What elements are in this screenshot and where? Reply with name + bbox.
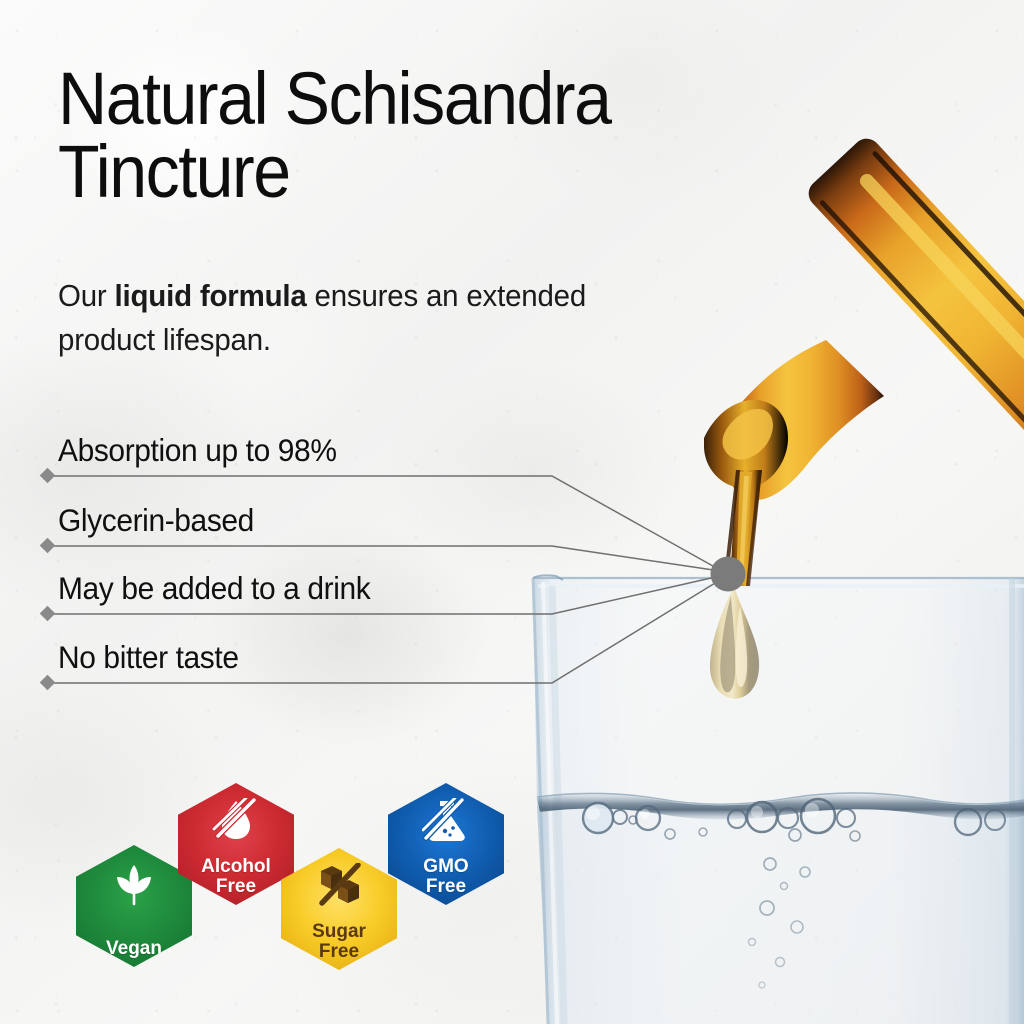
infographic-canvas: Natural Schisandra Tincture Our liquid f… [0, 0, 1024, 1024]
subtitle: Our liquid formula ensures an extended p… [58, 274, 590, 362]
subtitle-bold: liquid formula [115, 278, 307, 313]
no-flask-icon [422, 798, 470, 849]
feature-label-drink: May be added to a drink [58, 570, 370, 607]
leaf-icon [109, 860, 159, 913]
feature-label-glycerin: Glycerin-based [58, 502, 254, 539]
badge-alcohol-free-label: AlcoholFree [201, 857, 271, 896]
badge-gmo-free-label: GMOFree [423, 857, 468, 896]
title-line-1: Natural Schisandra [58, 62, 757, 135]
title-line-2: Tincture [58, 135, 757, 208]
page-title: Natural Schisandra Tincture [58, 62, 757, 209]
badge-sugar-free-label: SugarFree [312, 922, 366, 961]
no-droplet-icon [212, 798, 260, 847]
feature-label-taste: No bitter taste [58, 639, 239, 676]
leader-line-hub [711, 557, 746, 592]
no-sugar-cubes-icon [314, 863, 364, 912]
badge-vegan-label: Vegan [106, 939, 162, 958]
subtitle-pre: Our [58, 278, 115, 313]
feature-label-absorption: Absorption up to 98% [58, 432, 337, 469]
